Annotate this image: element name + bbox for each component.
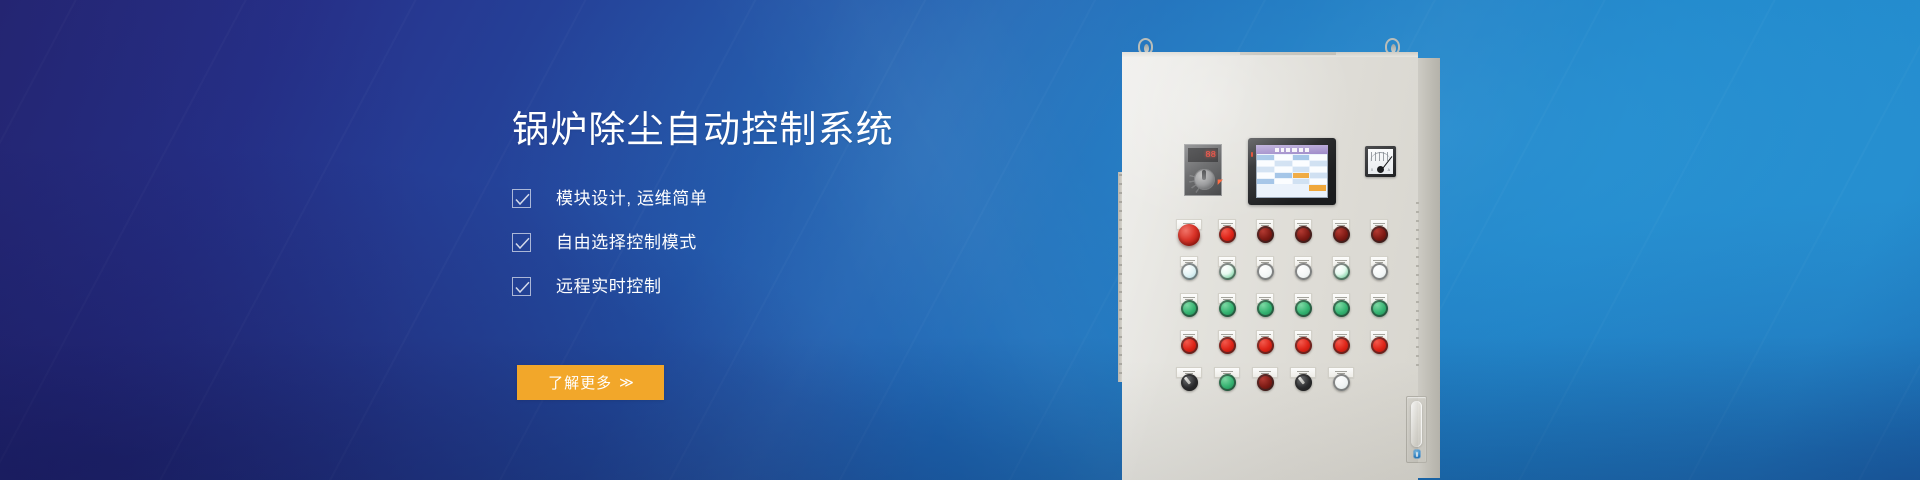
button-cell [1246,368,1284,396]
indicator-button[interactable] [1295,300,1312,317]
indicator-button[interactable] [1371,300,1388,317]
indicator-button[interactable] [1257,337,1274,354]
learn-more-button[interactable]: 了解更多 ≫ [517,365,664,400]
meter-face: 0 A [1368,149,1393,174]
cabinet-hinge-rivets [1119,174,1122,380]
chevron-right-double-icon: ≫ [619,374,633,391]
button-cell [1246,331,1284,359]
button-cell [1246,257,1284,285]
indicator-button[interactable] [1181,300,1198,317]
selector-switch[interactable] [1181,374,1198,391]
checkbox-checked-icon [512,233,531,252]
analog-ammeter: 0 A [1365,146,1396,177]
hmi-title-bar [1256,145,1328,154]
feature-label: 模块设计, 运维简单 [556,189,707,209]
button-cell [1322,257,1360,285]
controller-digital-readout: 88 [1188,148,1218,162]
indicator-button[interactable] [1333,226,1350,243]
indicator-button[interactable] [1257,226,1274,243]
indicator-button[interactable] [1219,263,1236,280]
button-cell [1208,257,1246,285]
feature-label: 远程实时控制 [556,277,662,297]
button-cell [1170,368,1208,396]
indicator-button[interactable] [1257,300,1274,317]
button-cell [1284,220,1322,248]
feature-list: 模块设计, 运维简单 自由选择控制模式 远程实时控制 [512,182,1072,303]
button-row [1170,220,1398,248]
cabinet-right-rivets [1416,202,1419,372]
learn-more-label: 了解更多 [548,372,612,393]
door-handle[interactable] [1406,396,1427,463]
cabinet-top-notch [1240,52,1336,55]
button-cell [1284,257,1322,285]
button-cell [1322,331,1360,359]
list-item: 模块设计, 运维简单 [512,182,1072,215]
button-cell [1170,257,1208,285]
button-cell [1170,294,1208,322]
indicator-button[interactable] [1371,337,1388,354]
page-title: 锅炉除尘自动控制系统 [512,108,1072,152]
indicator-button[interactable] [1295,226,1312,243]
button-cell [1284,294,1322,322]
button-cell [1322,368,1360,396]
button-cell [1360,294,1398,322]
button-cell [1208,220,1246,248]
indicator-button[interactable] [1295,263,1312,280]
indicator-button[interactable] [1333,300,1350,317]
indicator-button[interactable] [1257,263,1274,280]
button-cell [1208,368,1246,396]
button-row [1170,331,1398,359]
control-cabinet-image: 88 ◤ [1122,38,1452,480]
banner-copy: 锅炉除尘自动控制系统 模块设计, 运维简单 自由选择控制模式 [512,108,1072,303]
digital-temperature-controller[interactable]: 88 ◤ [1184,144,1222,196]
indicator-button[interactable] [1257,374,1274,391]
indicator-button[interactable] [1219,300,1236,317]
button-cell [1322,294,1360,322]
button-row [1170,257,1398,285]
meter-max-label: A [1388,168,1390,172]
indicator-button[interactable] [1181,337,1198,354]
door-handle-bar[interactable] [1411,401,1422,447]
button-cell [1360,331,1398,359]
indicator-button[interactable] [1219,374,1236,391]
hero-banner: 锅炉除尘自动控制系统 模块设计, 运维简单 自由选择控制模式 [0,0,1920,480]
hmi-data-table [1256,154,1328,198]
meter-needle-hub [1377,166,1384,173]
emergency-stop-button[interactable] [1178,224,1200,246]
indicator-button[interactable] [1181,263,1198,280]
hmi-action-button[interactable] [1309,185,1326,191]
feature-label: 自由选择控制模式 [556,233,697,253]
button-cell [1360,220,1398,248]
meter-min-label: 0 [1371,168,1373,172]
door-lock-cylinder[interactable] [1413,449,1421,459]
button-cell [1360,257,1398,285]
button-cell [1208,331,1246,359]
button-cell [1246,220,1284,248]
button-cell [1284,331,1322,359]
control-button-grid [1170,220,1398,405]
indicator-button[interactable] [1371,263,1388,280]
controller-rotary-knob[interactable] [1194,169,1215,190]
checkbox-checked-icon [512,277,531,296]
button-row [1170,294,1398,322]
selector-switch[interactable] [1295,374,1312,391]
button-cell [1208,294,1246,322]
button-cell [1246,294,1284,322]
button-row [1170,368,1398,396]
indicator-button[interactable] [1295,337,1312,354]
list-item: 远程实时控制 [512,270,1072,303]
indicator-button[interactable] [1219,337,1236,354]
power-led-icon [1251,152,1253,157]
indicator-button[interactable] [1333,374,1350,391]
button-cell [1170,220,1208,248]
indicator-button[interactable] [1333,263,1350,280]
indicator-button[interactable] [1219,226,1236,243]
hmi-touchscreen[interactable] [1248,138,1336,205]
button-cell [1322,220,1360,248]
button-cell [1284,368,1322,396]
arrow-icon: ◤ [1218,179,1223,186]
hmi-screen[interactable] [1256,145,1328,198]
cabinet-door: 88 ◤ [1122,52,1418,480]
readout-value: 88 [1205,151,1216,160]
indicator-button[interactable] [1371,226,1388,243]
list-item: 自由选择控制模式 [512,226,1072,259]
indicator-button[interactable] [1333,337,1350,354]
button-cell [1170,331,1208,359]
checkbox-checked-icon [512,189,531,208]
